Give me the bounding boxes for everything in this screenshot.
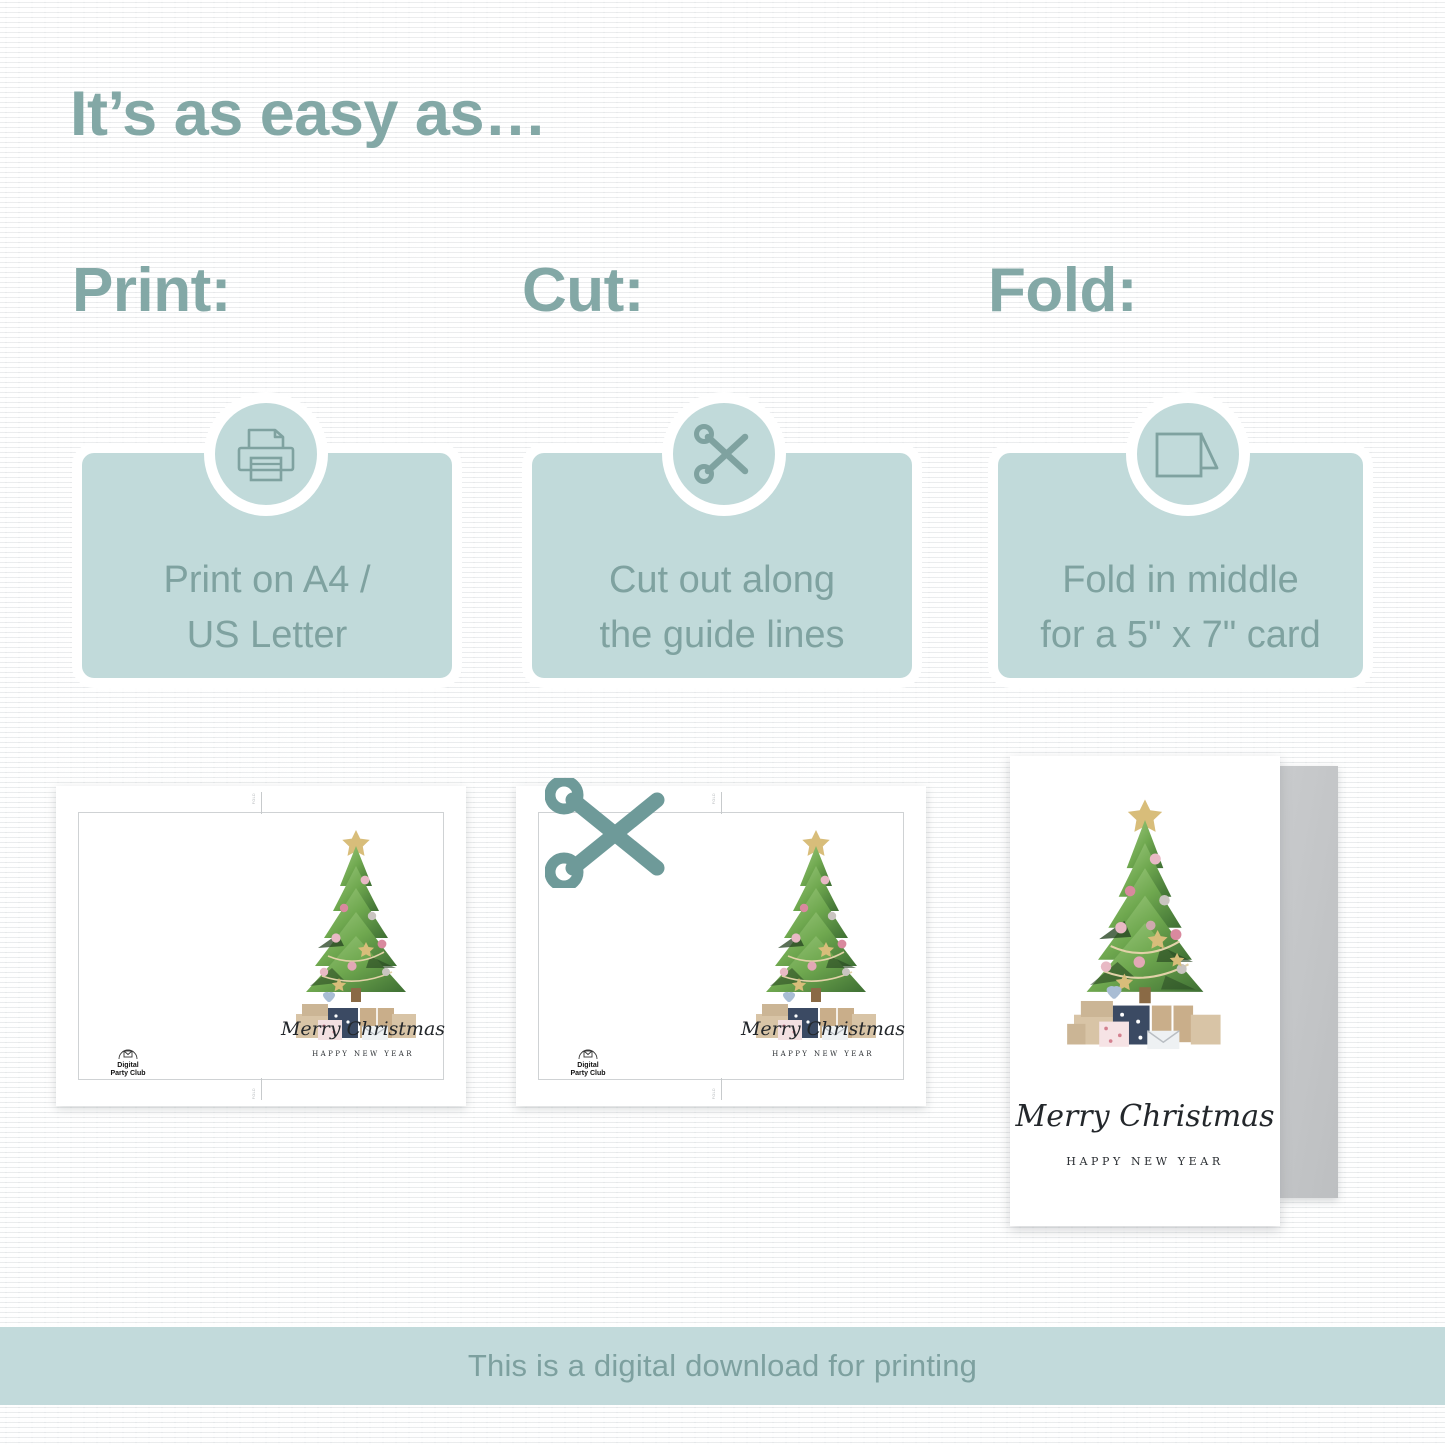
brand-logo-line2: Party Club — [558, 1070, 618, 1078]
mockup-printed-sheet: FOLD FOLD — [56, 786, 466, 1106]
fold-label-bottom: FOLD — [712, 1088, 716, 1099]
fold-mark-top — [721, 792, 722, 814]
footer-text: This is a digital download for printing — [468, 1348, 977, 1384]
step-heading-fold: Fold: — [988, 260, 1137, 322]
scissors-icon-badge — [662, 392, 786, 516]
step-text-cut-line2: the guide lines — [599, 614, 844, 656]
fold-label-top: FOLD — [712, 793, 716, 804]
step-text-fold-line2: for a 5" x 7" card — [1040, 614, 1320, 656]
brand-logo-line1: Digital — [98, 1062, 158, 1070]
step-text-print: Print on A4 / US Letter — [82, 553, 452, 663]
printer-icon — [233, 424, 299, 484]
brand-logo-line2: Party Club — [98, 1070, 158, 1078]
card-subtitle: HAPPY NEW YEAR — [278, 1050, 448, 1058]
folded-card-icon-badge — [1126, 392, 1250, 516]
fold-label-top: FOLD — [252, 793, 256, 804]
folded-card-icon — [1153, 426, 1223, 482]
fold-mark-bottom — [721, 1078, 722, 1100]
scissors-icon — [545, 778, 675, 888]
step-text-print-line2: US Letter — [187, 614, 348, 656]
mockup-folded-card: Merry Christmas HAPPY NEW YEAR — [1010, 756, 1280, 1226]
card-subtitle: HAPPY NEW YEAR — [738, 1050, 908, 1058]
step-text-fold-line1: Fold in middle — [1062, 559, 1299, 601]
step-heading-print: Print: — [72, 260, 231, 322]
step-text-fold: Fold in middle for a 5" x 7" card — [998, 553, 1363, 663]
brand-logo-line1: Digital — [558, 1062, 618, 1070]
step-heading-cut: Cut: — [522, 260, 644, 322]
folded-card-back-panel — [1278, 766, 1338, 1198]
scissors-overlay-icon — [545, 778, 675, 888]
card-subtitle: HAPPY NEW YEAR — [1010, 1155, 1280, 1168]
scissors-icon — [693, 424, 755, 484]
step-text-print-line1: Print on A4 / — [163, 559, 370, 601]
card-greeting: Merry Christmas — [278, 1018, 448, 1040]
printer-icon-badge — [204, 392, 328, 516]
envelope-badge-icon — [576, 1046, 600, 1062]
card-greeting: Merry Christmas — [738, 1018, 908, 1040]
footer-banner: This is a digital download for printing — [0, 1327, 1445, 1405]
card-greeting: Merry Christmas — [1010, 1099, 1280, 1134]
brand-logo: Digital Party Club — [98, 1046, 158, 1078]
fold-label-bottom: FOLD — [252, 1088, 256, 1099]
step-text-cut-line1: Cut out along — [609, 559, 835, 601]
card-artwork — [1036, 788, 1254, 1088]
page-title: It’s as easy as… — [70, 83, 547, 146]
step-text-cut: Cut out along the guide lines — [532, 553, 912, 663]
christmas-tree-with-presents-icon — [1036, 788, 1254, 1088]
fold-mark-bottom — [261, 1078, 262, 1100]
fold-mark-top — [261, 792, 262, 814]
envelope-badge-icon — [116, 1046, 140, 1062]
brand-logo: Digital Party Club — [558, 1046, 618, 1078]
